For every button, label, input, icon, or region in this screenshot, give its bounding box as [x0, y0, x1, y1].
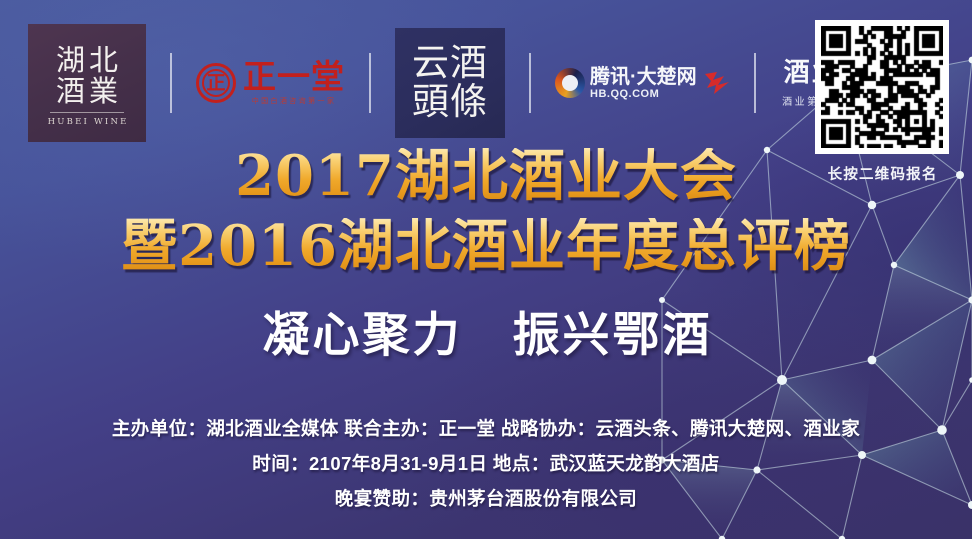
- logo-tencent-dachu[interactable]: 腾讯·大楚网 HB.QQ.COM: [555, 67, 730, 100]
- qr-code-image[interactable]: [821, 26, 943, 148]
- logo-zhengyitang-name: 正一堂: [243, 60, 345, 93]
- logo-zhengyitang[interactable]: 正 正一堂 中国白酒咨询第一家: [196, 60, 345, 106]
- logo-tencent-dachu-name: 腾讯·大楚网: [590, 67, 697, 87]
- red-swoosh-icon: [704, 71, 730, 95]
- logo-yunjiu-toutiao-line2: 頭條: [412, 83, 488, 122]
- event-slogan: 凝心聚力 振兴鄂酒: [0, 296, 972, 365]
- time-venue-line: 时间：2107年8月31-9月1日 地点：武汉蓝天龙韵大酒店: [0, 450, 972, 476]
- logo-zhengyitang-tagline: 中国白酒咨询第一家: [243, 96, 345, 106]
- qr-registration-block[interactable]: 长按二维码报名: [806, 20, 958, 184]
- logo-divider-4: [754, 53, 756, 113]
- logo-divider-2: [369, 53, 371, 113]
- logo-hubei-wine[interactable]: 湖北 酒業 HUBEI WINE: [28, 24, 146, 142]
- logo-divider-3: [529, 53, 531, 113]
- logo-hubei-wine-line2: 酒業: [52, 76, 122, 107]
- partner-logo-strip: 湖北 酒業 HUBEI WINE 正 正一堂 中国白酒咨询第一家 云酒 頭條: [28, 22, 870, 144]
- organizers-line: 主办单位：湖北酒业全媒体 联合主办：正一堂 战略协办：云酒头条、腾讯大楚网、酒业…: [0, 415, 972, 441]
- logo-hubei-wine-line1: 湖北: [52, 45, 122, 76]
- dinner-sponsor-line: 晚宴赞助：贵州茅台酒股份有限公司: [0, 485, 972, 511]
- seal-icon-char: 正: [206, 74, 225, 93]
- logo-tencent-dachu-domain: HB.QQ.COM: [590, 89, 697, 100]
- logo-yunjiu-toutiao-line1: 云酒: [412, 44, 488, 83]
- seal-icon: 正: [196, 63, 236, 103]
- qr-code-frame[interactable]: [815, 20, 949, 154]
- logo-divider-1: [170, 53, 172, 113]
- logo-yunjiu-toutiao[interactable]: 云酒 頭條: [395, 28, 505, 138]
- page-title-line2: 暨2016湖北酒业年度总评榜: [0, 218, 972, 274]
- conference-banner: 湖北 酒業 HUBEI WINE 正 正一堂 中国白酒咨询第一家 云酒 頭條: [0, 0, 972, 539]
- event-details-block: 主办单位：湖北酒业全媒体 联合主办：正一堂 战略协办：云酒头条、腾讯大楚网、酒业…: [0, 415, 972, 511]
- logo-hubei-wine-english: HUBEI WINE: [45, 117, 128, 127]
- tencent-penguin-icon: [555, 68, 585, 98]
- qr-caption: 长按二维码报名: [826, 163, 937, 184]
- logo-hubei-wine-rule: [50, 112, 124, 113]
